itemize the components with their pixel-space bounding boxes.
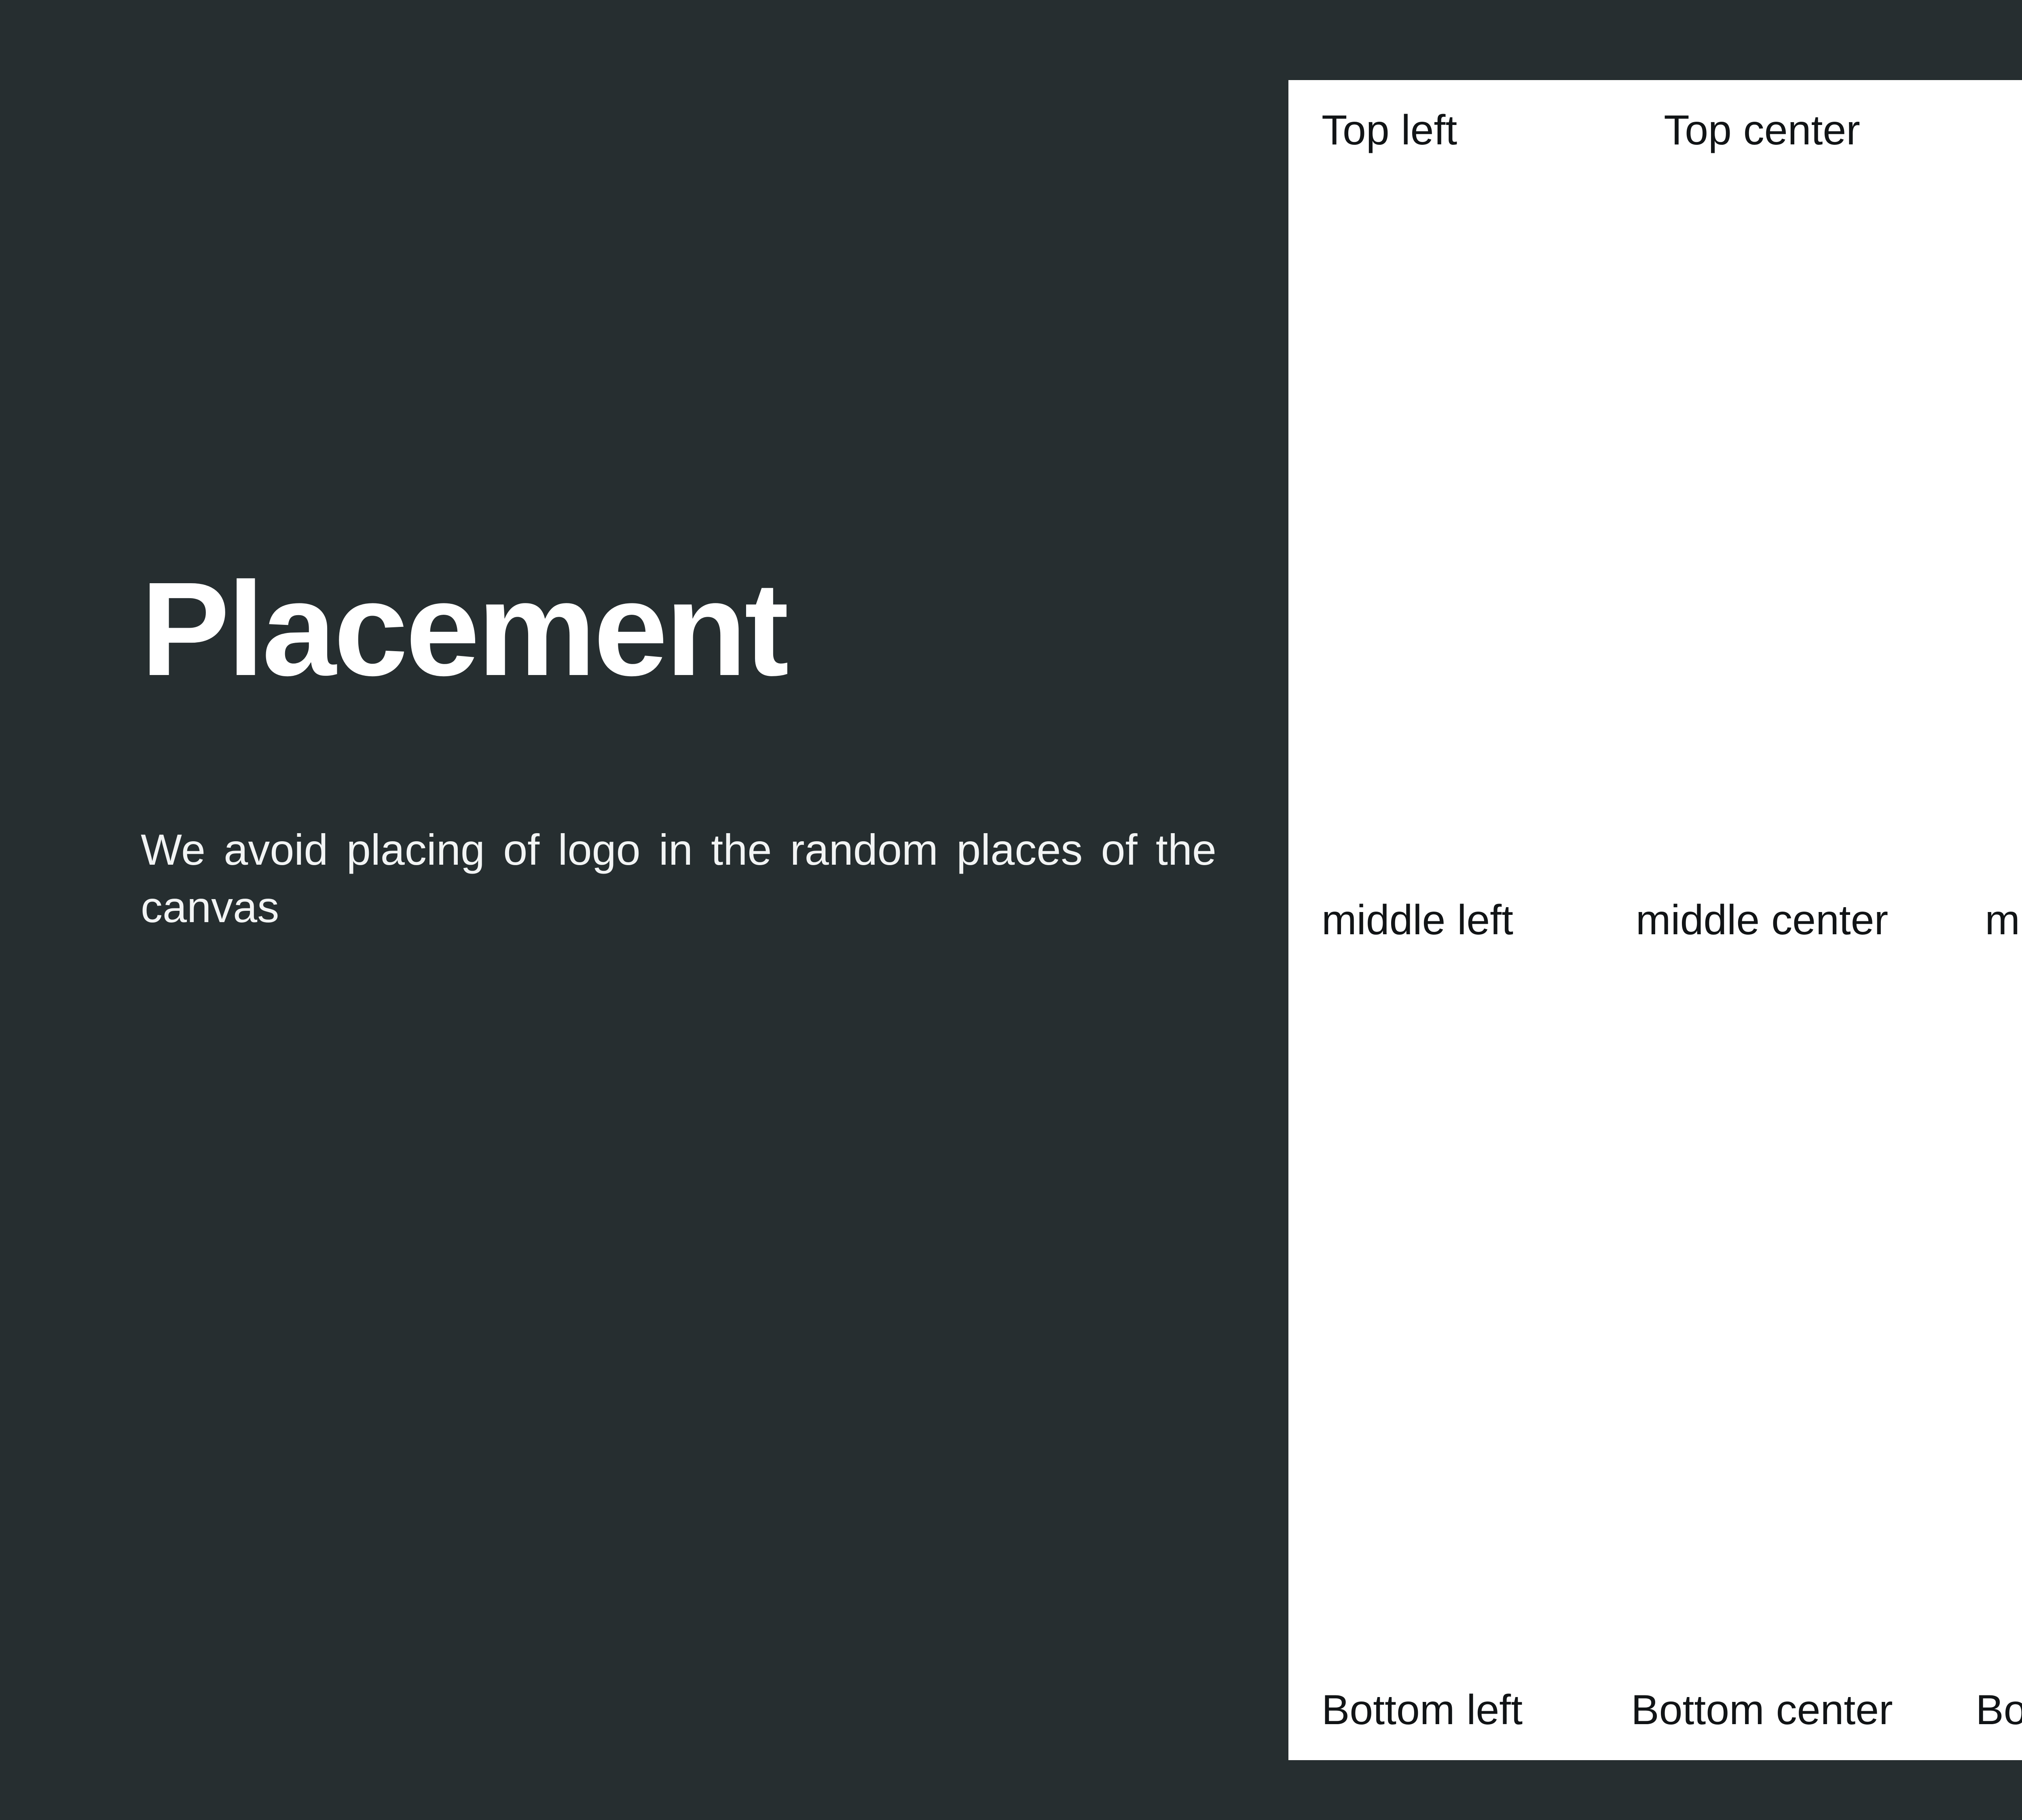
grid-cell-top-left: Top left: [1322, 109, 1615, 650]
grid-cell-middle-right: middle right: [1909, 650, 2022, 1191]
grid-cell-top-right: Top right: [1909, 109, 2022, 650]
label-middle-left: middle left: [1322, 899, 1513, 941]
copy-block: Placement We avoid placing of logo in th…: [141, 558, 1216, 936]
grid-cell-middle-left: middle left: [1322, 650, 1615, 1191]
grid-cell-middle-center: middle center: [1615, 650, 1909, 1191]
grid-cell-bottom-right: Bottom right: [1909, 1190, 2022, 1731]
label-middle-center: middle center: [1636, 899, 1888, 941]
page-title: Placement: [141, 558, 1216, 700]
label-top-left: Top left: [1322, 109, 1457, 151]
label-top-center: Top center: [1664, 109, 1860, 151]
grid-cell-bottom-center: Bottom center: [1615, 1190, 1909, 1731]
label-bottom-center: Bottom center: [1631, 1689, 1893, 1731]
position-label-grid: Top left Top center Top right middle lef…: [1288, 80, 2022, 1760]
position-labels-panel: Top left Top center Top right middle lef…: [1288, 80, 2022, 1760]
label-bottom-left: Bottom left: [1322, 1689, 1523, 1731]
label-middle-right: middle right: [1985, 899, 2022, 941]
slide-canvas: Placement We avoid placing of logo in th…: [0, 0, 2022, 1820]
grid-cell-bottom-left: Bottom left: [1322, 1190, 1615, 1731]
grid-cell-top-center: Top center: [1615, 109, 1909, 650]
page-subtitle: We avoid placing of logo in the random p…: [141, 821, 1216, 936]
label-bottom-right: Bottom right: [1975, 1689, 2022, 1731]
